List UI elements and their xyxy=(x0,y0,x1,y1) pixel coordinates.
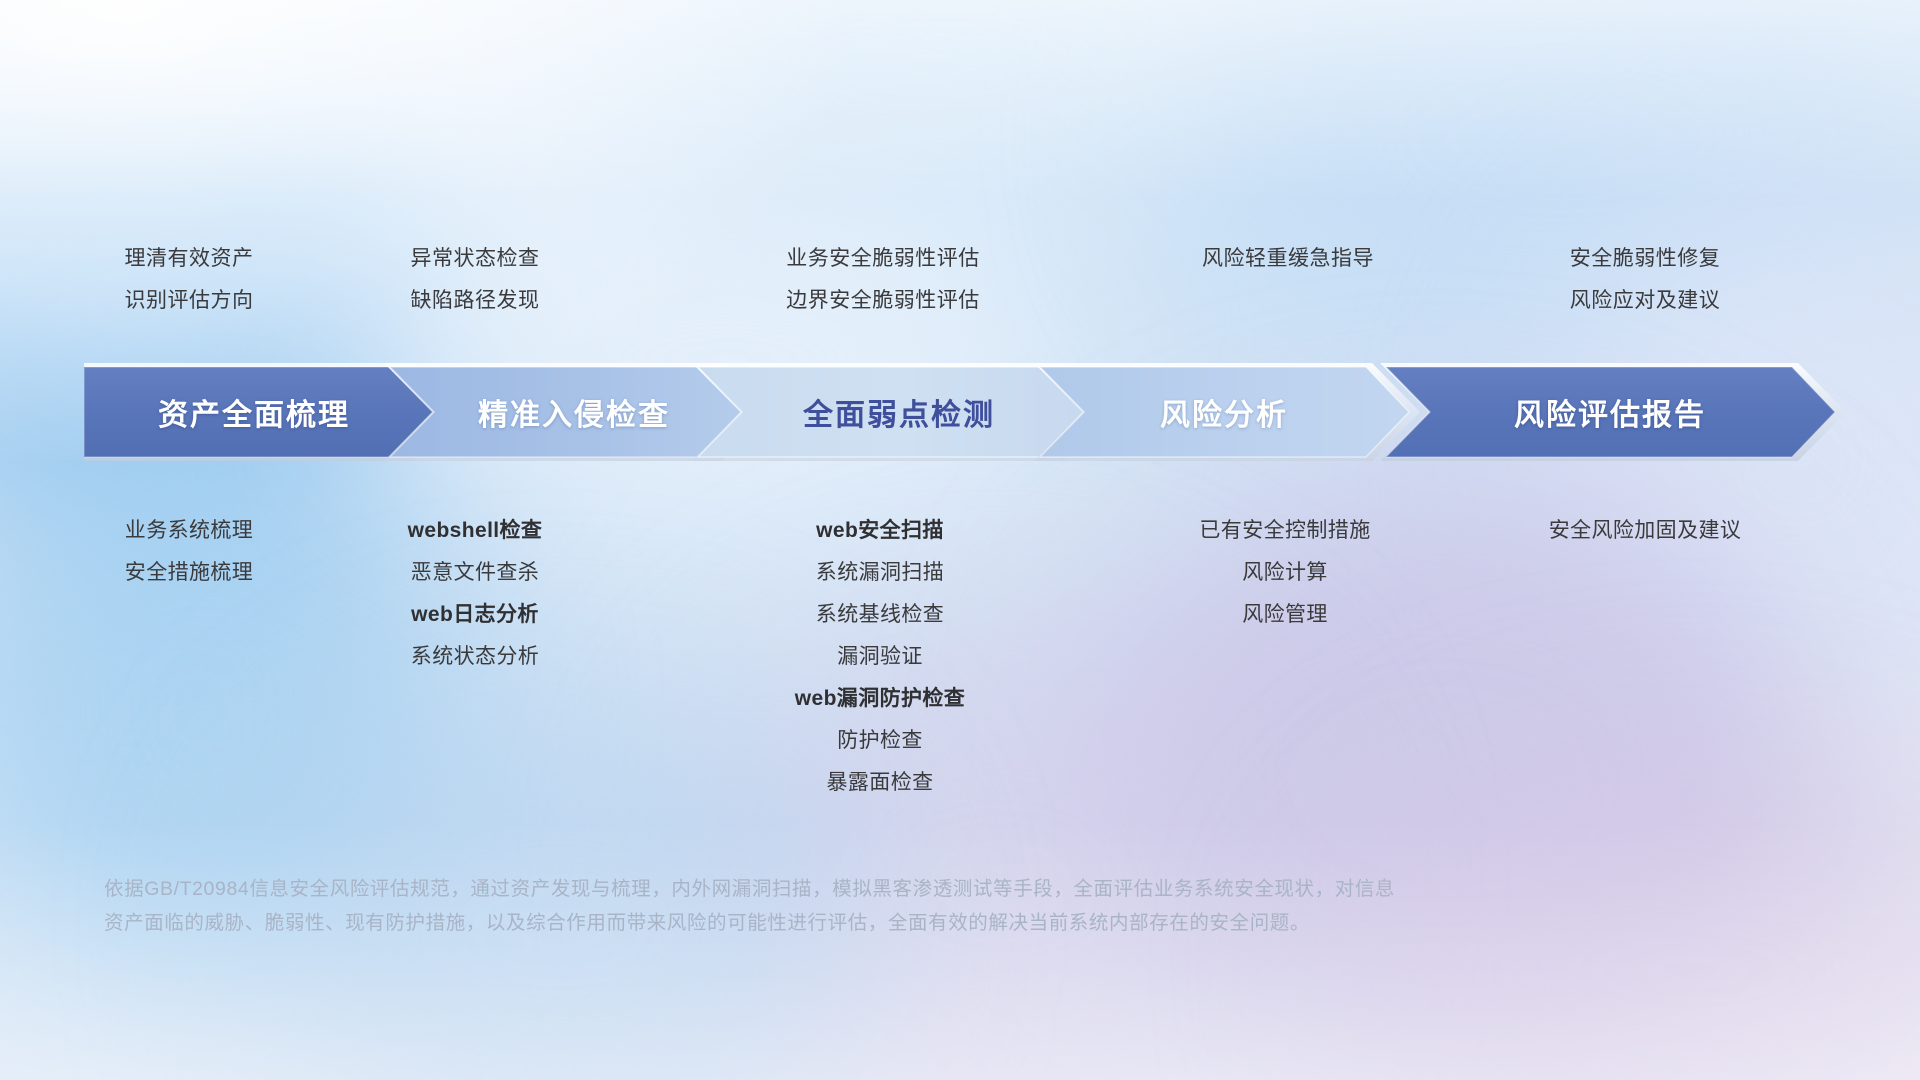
stage-top-items-assessment-report: 安全脆弱性修复 风险应对及建议 xyxy=(1485,238,1805,322)
stage-top-item: 异常状态检查 xyxy=(330,238,620,280)
stage-top-item: 理清有效资产 xyxy=(44,238,334,280)
stage-bottom-items-asset-inventory: 业务系统梳理 安全措施梳理 xyxy=(44,510,334,594)
stage-bottom-items-assessment-report: 安全风险加固及建议 xyxy=(1470,510,1820,552)
stage-bottom-item: 系统基线检查 xyxy=(680,594,1080,636)
stage-arrow-label: 风险评估报告 xyxy=(1514,390,1706,434)
stage-top-item: 风险轻重缓急指导 xyxy=(1128,238,1448,280)
stage-top-items-weakness-detection: 业务安全脆弱性评估 边界安全脆弱性评估 xyxy=(718,238,1048,322)
stage-bottom-item: 风险管理 xyxy=(1120,594,1450,636)
stage-bottom-item: webshell检查 xyxy=(330,510,620,552)
stage-top-item: 边界安全脆弱性评估 xyxy=(718,280,1048,322)
stage-bottom-items-weakness-detection: web安全扫描 系统漏洞扫描 系统基线检查 漏洞验证 web漏洞防护检查 防护检… xyxy=(680,510,1080,804)
stage-top-item: 识别评估方向 xyxy=(44,280,334,322)
stage-bottom-items-intrusion-check: webshell检查 恶意文件查杀 web日志分析 系统状态分析 xyxy=(330,510,620,678)
stage-bottom-item: 安全措施梳理 xyxy=(44,552,334,594)
footer-line: 资产面临的威胁、脆弱性、现有防护措施，以及综合作用而带来风险的可能性进行评估，全… xyxy=(104,906,1584,940)
stage-bottom-items-risk-analysis: 已有安全控制措施 风险计算 风险管理 xyxy=(1120,510,1450,636)
stage-top-item: 缺陷路径发现 xyxy=(330,280,620,322)
process-diagram: 理清有效资产 识别评估方向 异常状态检查 缺陷路径发现 业务安全脆弱性评估 边界… xyxy=(0,0,1920,1080)
stage-top-items-asset-inventory: 理清有效资产 识别评估方向 xyxy=(44,238,334,322)
stage-arrow-label: 资产全面梳理 xyxy=(158,390,350,434)
stage-bottom-item: 系统漏洞扫描 xyxy=(680,552,1080,594)
stage-bottom-item: 安全风险加固及建议 xyxy=(1470,510,1820,552)
stage-top-items-intrusion-check: 异常状态检查 缺陷路径发现 xyxy=(330,238,620,322)
stage-top-item: 风险应对及建议 xyxy=(1485,280,1805,322)
stage-bottom-item: 已有安全控制措施 xyxy=(1120,510,1450,552)
stage-arrow-band: 资产全面梳理 xyxy=(84,363,1846,461)
footer-line: 依据GB/T20984信息安全风险评估规范，通过资产发现与梳理，内外网漏洞扫描，… xyxy=(104,872,1584,906)
stage-bottom-item: 风险计算 xyxy=(1120,552,1450,594)
stage-bottom-item: web漏洞防护检查 xyxy=(680,678,1080,720)
stage-arrow-label: 风险分析 xyxy=(1160,390,1288,434)
stage-arrow-label: 精准入侵检查 xyxy=(478,390,670,434)
stage-arrow-assessment-report[interactable]: 风险评估报告 xyxy=(1380,363,1846,461)
stage-top-items-risk-analysis: 风险轻重缓急指导 xyxy=(1128,238,1448,280)
stage-bottom-item: 业务系统梳理 xyxy=(44,510,334,552)
stage-arrow-label: 全面弱点检测 xyxy=(803,390,995,434)
stage-top-item: 业务安全脆弱性评估 xyxy=(718,238,1048,280)
stage-bottom-item: 漏洞验证 xyxy=(680,636,1080,678)
stage-bottom-item: web安全扫描 xyxy=(680,510,1080,552)
stage-bottom-item: 恶意文件查杀 xyxy=(330,552,620,594)
stage-bottom-item: web日志分析 xyxy=(330,594,620,636)
stage-arrow-risk-analysis[interactable]: 风险分析 xyxy=(1034,363,1420,461)
stage-bottom-item: 防护检查 xyxy=(680,720,1080,762)
stage-bottom-item: 暴露面检查 xyxy=(680,762,1080,804)
stage-top-item: 安全脆弱性修复 xyxy=(1485,238,1805,280)
stage-bottom-item: 系统状态分析 xyxy=(330,636,620,678)
footer-description: 依据GB/T20984信息安全风险评估规范，通过资产发现与梳理，内外网漏洞扫描，… xyxy=(104,872,1584,940)
